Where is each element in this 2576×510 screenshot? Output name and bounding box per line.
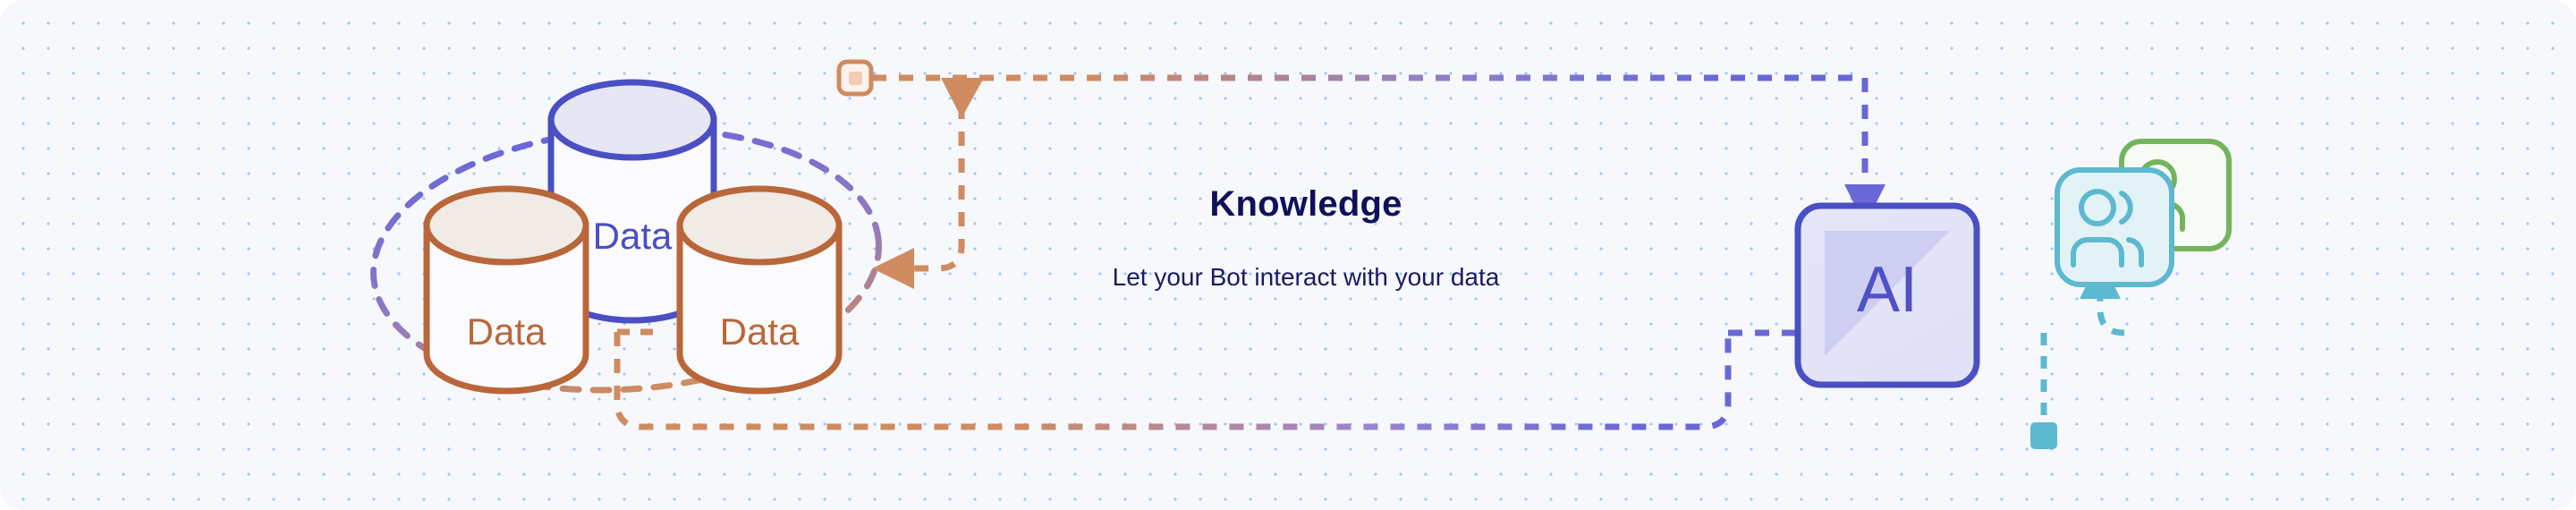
connector-handle-teal[interactable] [2030,422,2057,449]
ai-node-label: AI [1857,254,1918,326]
ai-node[interactable]: AI [1798,206,1977,385]
cylinder-front-left: Data [427,189,586,391]
top-feedback-connector [839,62,1885,289]
multi-user-card[interactable] [2057,170,2172,285]
cylinder-left-label: Data [467,310,547,353]
cylinder-right-label: Data [720,310,800,353]
cylinder-back-label: Data [593,215,673,257]
diagram-canvas: Data Data Data AI [0,0,2576,510]
cylinder-front-right: Data [680,189,839,391]
arrow-down-icon [941,78,984,118]
diagram-card: Data Data Data AI [0,0,2576,510]
diagram-stage: Data Data Data AI [0,0,2576,510]
connector-handle-orange[interactable] [839,62,871,94]
page-subtitle: Let your Bot interact with your data [948,265,1664,290]
page-title: Knowledge [1002,186,1610,222]
